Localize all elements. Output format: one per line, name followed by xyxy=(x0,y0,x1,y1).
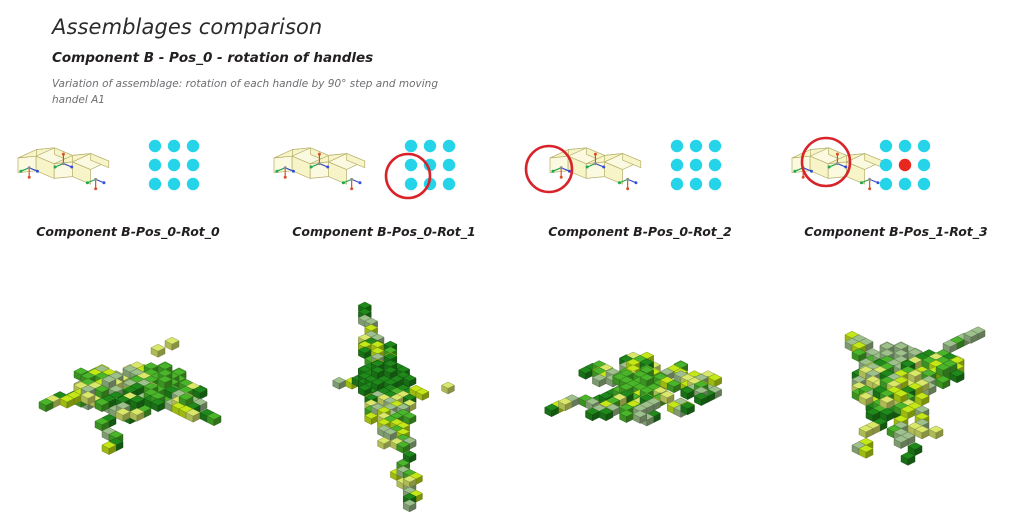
assemblage-2[interactable] xyxy=(512,270,768,518)
component-caption-1: Component B-Pos_0-Rot_1 xyxy=(256,224,512,239)
component-variant-3[interactable]: Component B-Pos_1-Rot_3 xyxy=(768,124,1024,249)
assemblage-0[interactable] xyxy=(0,270,256,518)
assemblage-results-row xyxy=(0,270,1024,518)
component-caption-3: Component B-Pos_1-Rot_3 xyxy=(768,224,1024,239)
handle-highlight-circle-1 xyxy=(256,124,512,224)
page-title: Assemblages comparison xyxy=(52,14,812,40)
component-diagram-1 xyxy=(256,124,512,202)
component-variant-1[interactable]: Component B-Pos_0-Rot_1 xyxy=(256,124,512,249)
assemblage-voxel-model-2 xyxy=(512,270,768,518)
component-variants-row: Component B-Pos_0-Rot_0Component B-Pos_0… xyxy=(0,124,1024,249)
component-diagram-0 xyxy=(0,124,256,202)
handle-highlight-circle-2 xyxy=(512,124,768,224)
header: Assemblages comparison Component B - Pos… xyxy=(52,14,812,108)
component-caption-2: Component B-Pos_0-Rot_2 xyxy=(512,224,768,239)
assemblage-1[interactable] xyxy=(256,270,512,518)
dot-grid-0 xyxy=(149,140,199,190)
assemblage-voxel-model-3 xyxy=(768,270,1024,518)
assemblage-3[interactable] xyxy=(768,270,1024,518)
component-caption-0: Component B-Pos_0-Rot_0 xyxy=(0,224,256,239)
component-variant-0[interactable]: Component B-Pos_0-Rot_0 xyxy=(0,124,256,249)
assemblage-voxel-model-0 xyxy=(0,270,256,518)
assemblage-voxel-model-1 xyxy=(256,270,512,518)
handle-highlight-circle-3 xyxy=(768,124,1024,224)
component-diagram-2 xyxy=(512,124,768,202)
component-diagram-3 xyxy=(768,124,1024,202)
page-subtitle: Component B - Pos_0 - rotation of handle… xyxy=(52,50,812,66)
page-description: Variation of assemblage: rotation of eac… xyxy=(52,77,442,107)
component-variant-2[interactable]: Component B-Pos_0-Rot_2 xyxy=(512,124,768,249)
